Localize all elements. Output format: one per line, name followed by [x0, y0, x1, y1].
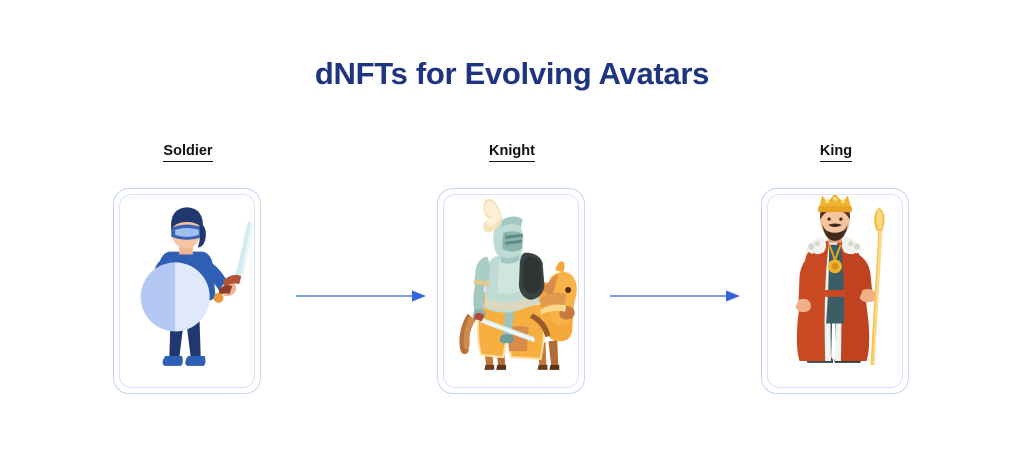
stage-king[interactable]: King: [761, 143, 911, 394]
card-king[interactable]: [761, 188, 909, 394]
stage-knight[interactable]: Knight: [437, 143, 587, 394]
stage-label-knight-text: Knight: [489, 143, 535, 162]
card-king-inner: [767, 194, 903, 388]
arrow-soldier-to-knight: [296, 289, 426, 303]
king-avatar-icon: [768, 195, 902, 387]
stage-label-king-text: King: [820, 143, 852, 162]
stage-soldier[interactable]: Soldier: [113, 143, 263, 394]
card-soldier[interactable]: [113, 188, 261, 394]
card-soldier-inner: [119, 194, 255, 388]
stage-label-soldier: Soldier: [113, 143, 263, 159]
arrow-knight-to-king: [610, 289, 740, 303]
stage-label-king: King: [761, 143, 911, 159]
evolution-flow: Soldier: [0, 0, 1024, 459]
card-knight[interactable]: [437, 188, 585, 394]
stage-label-knight: Knight: [437, 143, 587, 159]
card-knight-inner: [443, 194, 579, 388]
knight-avatar-icon: [444, 195, 578, 387]
soldier-avatar-icon: [120, 195, 254, 387]
stage-label-soldier-text: Soldier: [163, 143, 212, 162]
